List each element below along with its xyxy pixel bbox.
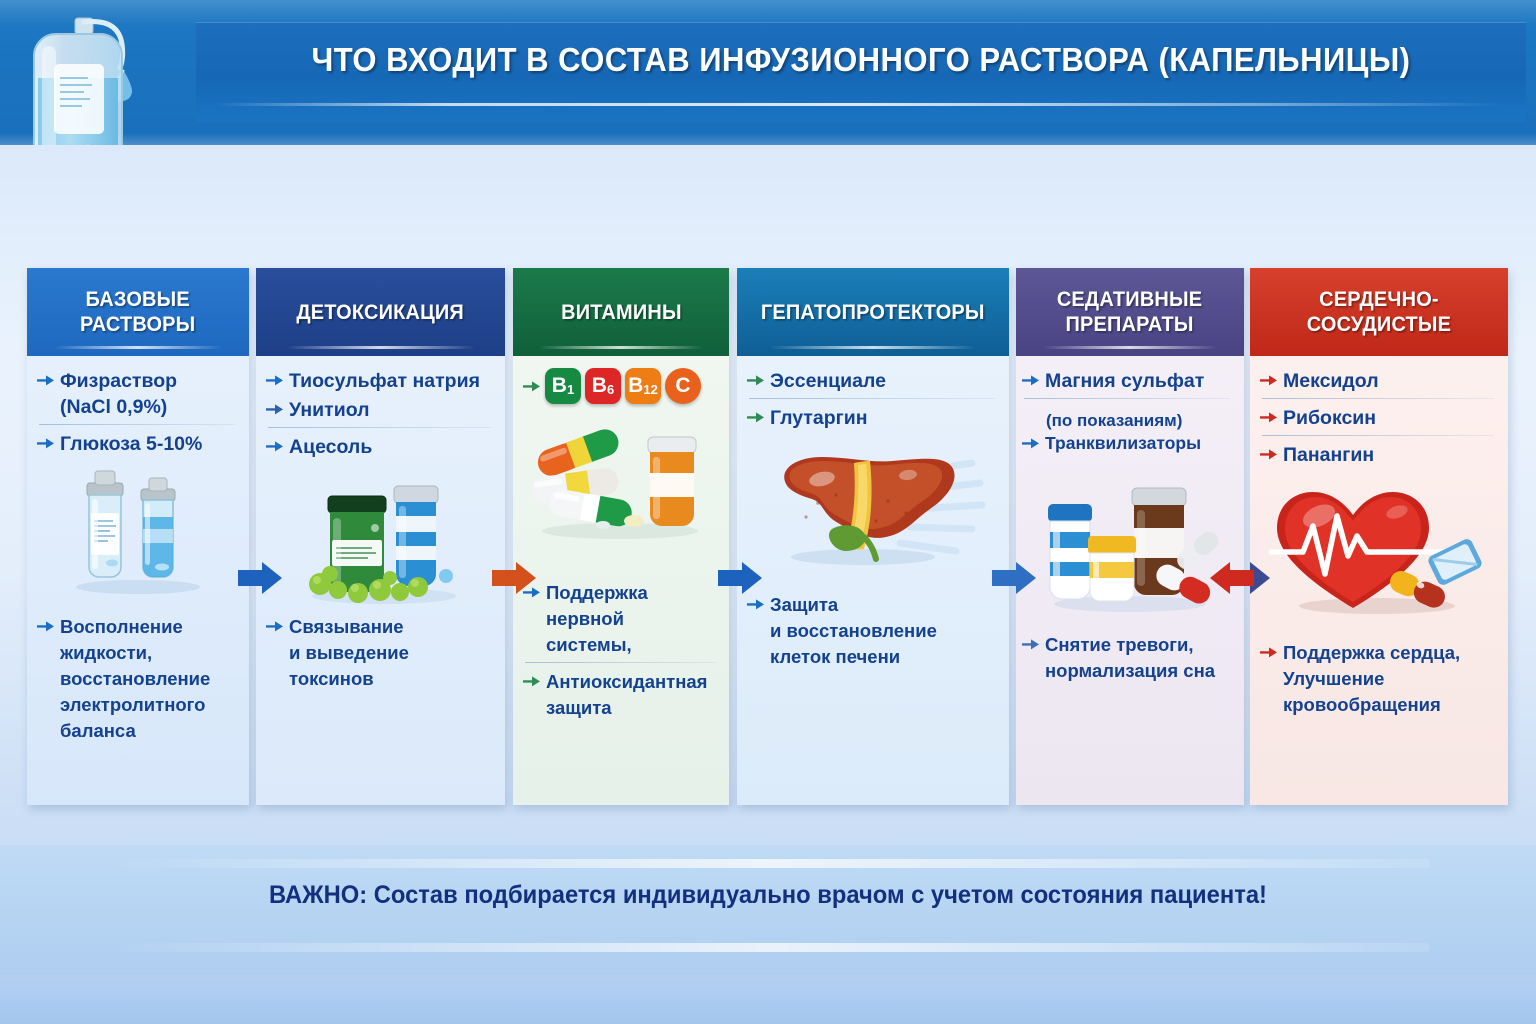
badge-label: C — [675, 374, 690, 398]
sedatives-note: (по показаниям) — [1046, 409, 1232, 433]
list-item-label: Мексидол — [1283, 368, 1379, 394]
outcome-base-solutions: Восполнение жидкости, восстановление эле… — [37, 614, 239, 747]
arrow-blue-icon — [37, 437, 54, 455]
column-header-sedatives: СЕДАТИВНЫЕ ПРЕПАРАТЫ — [1016, 268, 1244, 356]
badge-b6: B6 — [585, 368, 621, 404]
connector-arrow-4 — [992, 560, 1038, 596]
outcome-item: Антиоксидантная защита — [523, 669, 719, 721]
green-and-blue-bottles-icon — [256, 468, 505, 608]
title-plate: ЧТО ВХОДИТ В СОСТАВ ИНФУЗИОННОГО РАСТВОР… — [196, 22, 1526, 122]
badge-b12: B12 — [625, 368, 661, 404]
connector-arrow-6 — [1208, 560, 1254, 596]
title-underline — [214, 103, 1504, 106]
list-item[interactable]: Панангин — [1260, 442, 1496, 468]
outcome-item: Защита и восстановление клеток печени — [747, 592, 999, 670]
divider — [1262, 398, 1494, 399]
page-title: ЧТО ВХОДИТ В СОСТАВ ИНФУЗИОННОГО РАСТВОР… — [236, 22, 1486, 98]
outcome-item: Поддержка нервной системы, — [523, 580, 719, 658]
divider — [1262, 435, 1494, 436]
list-item[interactable]: Эссенциале — [747, 368, 997, 394]
arrow-blue-icon — [1022, 437, 1039, 455]
list-item-label: Магния сульфат — [1045, 368, 1204, 394]
list-item-label: Физраствор (NaCl 0,9%) — [60, 368, 177, 420]
list-item-label: Рибоксин — [1283, 405, 1376, 431]
column-header-hepatoprotectors: ГЕПАТОПРОТЕКТОРЫ — [737, 268, 1009, 356]
footer-band-bottom — [110, 943, 1430, 952]
divider — [268, 427, 491, 428]
column-vitamins[interactable]: ВИТАМИНЫ B1 B6 B12 — [513, 268, 729, 805]
outcome-vitamins: Поддержка нервной системы, Антиоксидантн… — [523, 580, 719, 724]
outcome-label: Защита и восстановление клеток печени — [770, 592, 937, 670]
list-item-label: Ацесоль — [289, 434, 372, 460]
list-item-label: Панангин — [1283, 442, 1374, 468]
outcome-hepatoprotectors: Защита и восстановление клеток печени — [747, 592, 999, 673]
list-item[interactable]: Глюкоза 5-10% — [37, 431, 237, 457]
arrow-red-icon — [1260, 374, 1277, 392]
bottom-gradient — [0, 975, 1536, 1024]
header-bar: ЧТО ВХОДИТ В СОСТАВ ИНФУЗИОННОГО РАСТВОР… — [0, 0, 1536, 145]
arrow-green-icon — [523, 380, 540, 398]
footer-band-top — [110, 859, 1430, 868]
header-underline — [539, 346, 703, 349]
connector-arrow-2 — [492, 560, 538, 596]
outcome-label: Снятие тревоги, нормализация сна — [1045, 632, 1215, 684]
outcome-item: Поддержка сердца, Улучшение кровообращен… — [1260, 640, 1498, 718]
column-header-cardiovascular: СЕРДЕЧНО- СОСУДИСТЫЕ — [1250, 268, 1508, 356]
category-columns: БАЗОВЫЕ РАСТВОРЫ Физраствор (NaCl 0,9%) … — [0, 268, 1536, 808]
outcome-item: Снятие тревоги, нормализация сна — [1022, 632, 1234, 684]
liver-organ-icon — [737, 450, 1009, 570]
column-header-base-solutions: БАЗОВЫЕ РАСТВОРЫ — [27, 268, 249, 356]
arrow-blue-icon — [266, 374, 283, 392]
list-item-label: Транквилизаторы — [1045, 431, 1201, 455]
badge-sub: 6 — [607, 382, 614, 397]
column-body: Тиосульфат натрия Унитиол Ацесоль — [256, 356, 505, 805]
outcome-label: Восполнение жидкости, восстановление эле… — [60, 614, 210, 744]
outcome-cardiovascular: Поддержка сердца, Улучшение кровообращен… — [1260, 640, 1498, 721]
arrow-green-icon — [747, 411, 764, 429]
list-item[interactable]: Физраствор (NaCl 0,9%) — [37, 368, 237, 420]
badge-c: C — [665, 368, 701, 404]
outcome-sedatives: Снятие тревоги, нормализация сна — [1022, 632, 1234, 687]
medicine-bottles-and-capsule-icon — [1016, 478, 1244, 618]
divider — [1024, 398, 1230, 399]
list-item-label: Унитиол — [289, 397, 370, 423]
header-underline — [54, 346, 223, 349]
arrow-red-icon — [1260, 448, 1277, 466]
divider — [749, 398, 995, 399]
arrow-green-icon — [747, 374, 764, 392]
column-header-vitamins: ВИТАМИНЫ — [513, 268, 729, 356]
arrow-blue-icon — [266, 403, 283, 421]
arrow-blue-icon — [266, 620, 283, 638]
column-body: Физраствор (NaCl 0,9%) Глюкоза 5-10% — [27, 356, 249, 805]
connector-arrow-1 — [238, 560, 284, 596]
list-item-label: Эссенциале — [770, 368, 886, 394]
arrow-blue-icon — [1022, 374, 1039, 392]
column-title: ВИТАМИНЫ — [561, 300, 682, 325]
arrow-blue-icon — [747, 598, 764, 616]
header-underline — [770, 346, 977, 349]
connector-arrow-3 — [718, 560, 764, 596]
capsules-and-pill-bottle-icon — [513, 414, 729, 544]
vitamin-badges-row: B1 B6 B12 C — [523, 368, 717, 404]
outcome-item: Восполнение жидкости, восстановление эле… — [37, 614, 239, 744]
badge-label: B — [592, 374, 607, 398]
badge-b1: B1 — [545, 368, 581, 404]
header-underline — [286, 346, 475, 349]
column-body: Эссенциале Глутаргин — [737, 356, 1009, 805]
list-item[interactable]: Магния сульфат — [1022, 368, 1232, 394]
list-item-label: Тиосульфат натрия — [289, 368, 480, 394]
footer-text: ВАЖНО: Состав подбирается индивидуально … — [38, 881, 1497, 910]
list-item[interactable]: Рибоксин — [1260, 405, 1496, 431]
list-item[interactable]: Мексидол — [1260, 368, 1496, 394]
list-item[interactable]: Глутаргин — [747, 405, 997, 431]
column-detoxification[interactable]: ДЕТОКСИКАЦИЯ Тиосульфат натрия Унитиол — [256, 268, 505, 805]
arrow-blue-icon — [37, 374, 54, 392]
badge-label: B — [628, 374, 643, 398]
column-title: СЕДАТИВНЫЕ ПРЕПАРАТЫ — [1057, 287, 1202, 337]
outcome-label: Антиоксидантная защита — [546, 669, 707, 721]
column-title: СЕРДЕЧНО- СОСУДИСТЫЕ — [1307, 287, 1451, 337]
column-header-detoxification: ДЕТОКСИКАЦИЯ — [256, 268, 505, 356]
list-item-label: Глюкоза 5-10% — [60, 431, 202, 457]
badge-sub: 12 — [643, 382, 657, 397]
header-sheen-bottom — [0, 133, 1536, 145]
list-item[interactable]: Унитиол — [266, 397, 493, 423]
column-title: БАЗОВЫЕ РАСТВОРЫ — [80, 287, 195, 337]
badge-sub: 1 — [567, 382, 574, 397]
column-body: Мексидол Рибоксин Панангин — [1250, 356, 1508, 805]
outcome-label: Поддержка сердца, Улучшение кровообращен… — [1283, 640, 1460, 718]
footer-note: ВАЖНО: Состав подбирается индивидуально … — [0, 845, 1536, 975]
column-cardiovascular[interactable]: СЕРДЕЧНО- СОСУДИСТЫЕ Мексидол Рибоксин — [1250, 268, 1508, 805]
list-item[interactable]: Тиосульфат натрия — [266, 368, 493, 394]
heart-with-ecg-line-icon — [1250, 482, 1508, 617]
arrow-blue-icon — [37, 620, 54, 638]
divider — [525, 662, 717, 663]
column-sedatives[interactable]: СЕДАТИВНЫЕ ПРЕПАРАТЫ Магния сульфат (по … — [1016, 268, 1244, 805]
divider — [39, 424, 235, 425]
arrow-blue-icon — [266, 440, 283, 458]
arrow-red-icon — [1260, 411, 1277, 429]
outcome-item: Связывание и выведение токсинов — [266, 614, 495, 692]
column-title: ДЕТОКСИКАЦИЯ — [297, 300, 465, 325]
arrow-red-icon — [1260, 646, 1277, 664]
outcome-label: Поддержка нервной системы, — [546, 580, 648, 658]
outcome-label: Связывание и выведение токсинов — [289, 614, 409, 692]
two-glass-vials-icon — [27, 468, 249, 598]
vitamin-badges: B1 B6 B12 C — [545, 368, 701, 404]
list-item-label: Глутаргин — [770, 405, 868, 431]
column-base-solutions[interactable]: БАЗОВЫЕ РАСТВОРЫ Физраствор (NaCl 0,9%) … — [27, 268, 249, 805]
list-item[interactable]: Ацесоль — [266, 434, 493, 460]
list-item[interactable]: Транквилизаторы — [1022, 431, 1232, 455]
badge-label: B — [552, 374, 567, 398]
column-hepatoprotectors[interactable]: ГЕПАТОПРОТЕКТОРЫ Эссенциале Глутаргин — [737, 268, 1009, 805]
column-title: ГЕПАТОПРОТЕКТОРЫ — [761, 300, 985, 325]
header-underline — [1043, 346, 1216, 349]
arrow-blue-icon — [1022, 638, 1039, 656]
column-body: B1 B6 B12 C — [513, 356, 729, 805]
arrow-green-icon — [523, 675, 540, 693]
outcome-detoxification: Связывание и выведение токсинов — [266, 614, 495, 695]
